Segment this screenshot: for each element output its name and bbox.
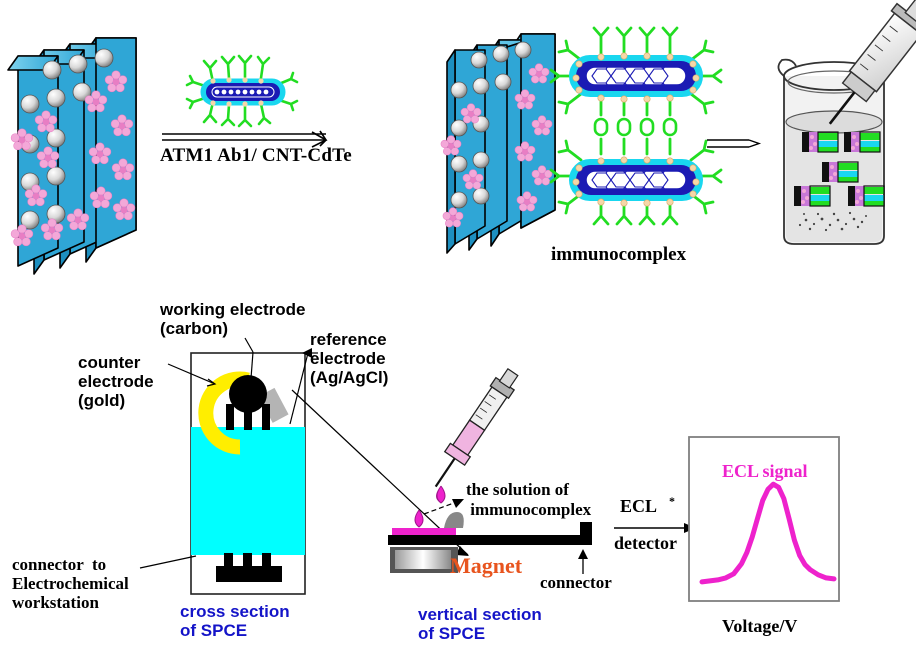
magnetic-bead-plates-bound — [443, 28, 563, 253]
ecl-arrow-top-label: ECL — [620, 497, 657, 515]
cross-section-caption: cross section of SPCE — [180, 602, 290, 640]
voltage-axis-label: Voltage/V — [722, 617, 797, 635]
beaker-with-immunocomplex-solution — [770, 14, 910, 252]
ecl-signal-label: ECL signal — [722, 461, 808, 482]
immunocomplex-assembly — [546, 22, 756, 242]
cnt-cdte-antibody-conjugate — [183, 52, 308, 130]
magnetic-bead-plates-unbound — [8, 30, 158, 275]
connector-workstation-label: connector to Electrochemical workstation — [12, 555, 129, 612]
counter-electrode-label: counter electrode (gold) — [78, 353, 154, 410]
connector-label: connector — [540, 574, 612, 592]
transfer-arrow — [705, 134, 761, 154]
connector-leader-arrow — [575, 546, 595, 576]
spce-cross-section — [190, 352, 306, 595]
vertical-section-caption: vertical section of SPCE — [418, 605, 542, 643]
reference-electrode-label: reference electrode (Ag/AgCl) — [310, 330, 388, 387]
ecl-arrow-bottom-label: detector — [614, 534, 677, 552]
working-electrode-label: working electrode (carbon) — [160, 300, 305, 338]
immunocomplex-label: immunocomplex — [551, 246, 686, 264]
figure-canvas: ATM1 Ab1/ CNT-CdTe — [0, 0, 916, 665]
reaction-arrow-label: ATM1 Ab1/ CNT-CdTe — [160, 147, 352, 165]
magnet-label: Magnet — [450, 553, 522, 579]
ecl-excited-state-superscript: * — [669, 492, 675, 510]
